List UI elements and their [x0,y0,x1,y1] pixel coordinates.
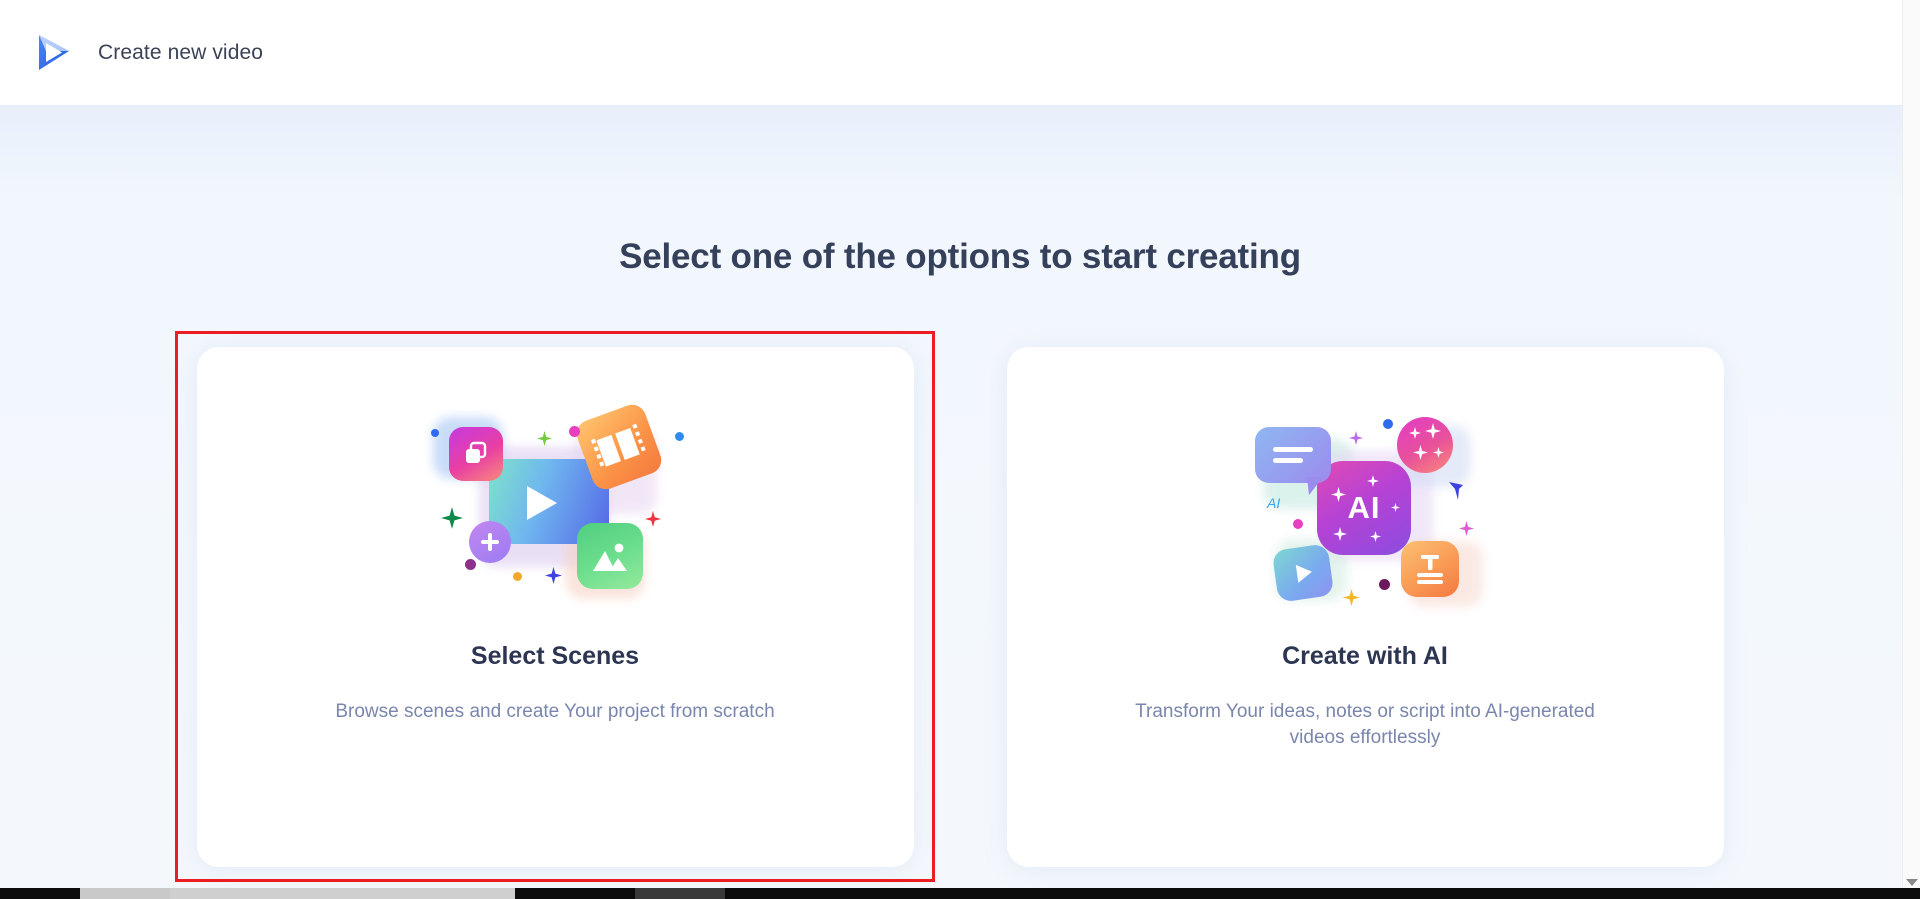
decor-sparkle-violet-icon [1349,431,1363,445]
decor-sparkle-pink-icon [1459,521,1474,536]
create-with-ai-card-description: Transform Your ideas, notes or script in… [1125,699,1605,750]
select-scenes-card[interactable]: Select Scenes Browse scenes and create Y… [197,347,914,867]
decor-dot-purple-icon [465,559,476,570]
image-tile-icon [577,523,643,589]
play-tile-icon [1272,543,1335,602]
decor-dot-orange-icon [513,572,522,581]
page-title: Create new video [98,41,263,65]
page-content: Select one of the options to start creat… [0,105,1920,899]
select-scenes-card-title: Select Scenes [471,642,639,671]
sparkle-circle-icon [1397,417,1453,473]
decor-sparkle-gold-icon [1343,589,1360,606]
app-header: Create new video [0,0,1920,105]
select-scenes-card-description: Browse scenes and create Your project fr… [315,699,795,725]
chat-bubble-icon [1255,427,1331,483]
ai-badge-label: AI [1267,495,1280,511]
layers-tile-icon [449,427,503,481]
create-with-ai-card[interactable]: AI [1007,347,1724,867]
play-triangle-logo-icon[interactable] [30,30,76,76]
decor-dot-blue-icon [431,429,439,437]
scenes-media-collage-illustration [405,399,705,614]
decor-dot-magenta-icon [569,426,580,437]
decor-sparkle-red-icon [645,511,661,527]
ai-tile-label: AI [1348,490,1381,526]
decor-dot-magenta-icon [1293,519,1303,529]
main-heading: Select one of the options to start creat… [0,237,1920,277]
vertical-scrollbar[interactable] [1902,0,1920,899]
options-row: Select Scenes Browse scenes and create Y… [0,347,1920,867]
horizontal-scrollbar[interactable] [0,888,1920,899]
create-with-ai-card-wrapper: AI [1007,347,1724,867]
decor-sparkle-green-icon [537,431,552,446]
decor-sparkle-indigo-icon [545,567,562,584]
decor-dot-purple-icon [1379,579,1390,590]
add-circle-icon [469,521,511,563]
decor-dot-blue2-icon [675,432,684,441]
text-tile-icon [1401,541,1459,597]
ai-sparkle-collage-illustration: AI [1215,399,1515,614]
chevron-down-icon[interactable] [1906,879,1918,886]
create-with-ai-card-title: Create with AI [1282,642,1448,671]
decor-dot-blue-icon [1383,419,1393,429]
pin-icon [1445,479,1467,503]
select-scenes-card-wrapper: Select Scenes Browse scenes and create Y… [197,347,914,867]
decor-sparkle-darkgreen-icon [441,507,463,529]
